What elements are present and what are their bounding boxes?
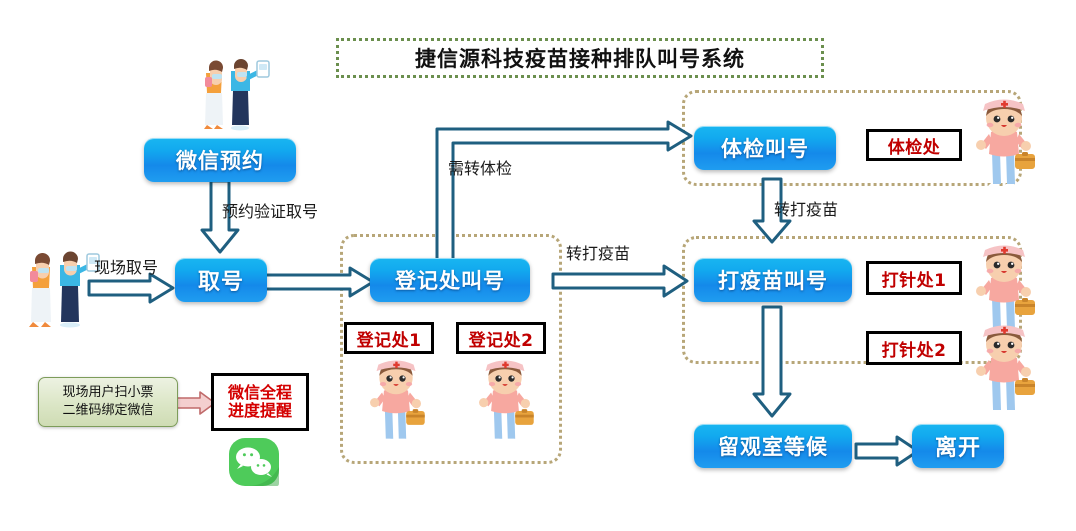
note-wechat-progress-reminder: 微信全程 进度提醒 [211, 373, 309, 431]
node-exam-call-label: 体检叫号 [721, 133, 809, 163]
node-get-number[interactable]: 取号 [175, 258, 267, 302]
station-injection-1: 打针处1 [866, 261, 962, 295]
page-title-text: 捷信源科技疫苗接种排队叫号系统 [415, 43, 745, 73]
station-injection-2-label: 打针处2 [882, 336, 947, 361]
node-get-number-label: 取号 [198, 264, 244, 296]
station-exam-desk: 体检处 [866, 129, 962, 161]
arrow-down-icon-vaccine-to-observation [752, 306, 792, 418]
node-vaccine-call-label: 打疫苗叫号 [718, 265, 828, 295]
note-scan-line-2: 二维码绑定微信 [62, 402, 153, 420]
wechat-logo-icon [227, 437, 283, 489]
node-vaccine-call[interactable]: 打疫苗叫号 [694, 258, 852, 302]
node-wechat-booking[interactable]: 微信预约 [144, 138, 296, 182]
station-registration-1-label: 登记处1 [357, 326, 422, 351]
arrow-right-icon-observation-to-leave [855, 435, 919, 467]
note-scan-bind-wechat: 现场用户扫小票 二维码绑定微信 [38, 377, 178, 427]
node-registration-call-label: 登记处叫号 [395, 265, 505, 295]
nurse-illustration-registration-1 [358, 352, 434, 444]
node-observation[interactable]: 留观室等候 [694, 424, 852, 468]
node-observation-label: 留观室等候 [718, 431, 828, 461]
nurse-illustration-registration-2 [467, 352, 543, 444]
note-reminder-line-1: 微信全程 [228, 384, 292, 402]
arrow-right-icon-to-registration [262, 266, 374, 298]
station-registration-1: 登记处1 [344, 322, 434, 354]
node-exam-call[interactable]: 体检叫号 [694, 126, 836, 170]
node-registration-call[interactable]: 登记处叫号 [370, 258, 530, 302]
station-registration-2-label: 登记处2 [469, 326, 534, 351]
node-leave[interactable]: 离开 [912, 424, 1004, 468]
node-wechat-booking-label: 微信预约 [176, 145, 264, 175]
station-injection-1-label: 打针处1 [882, 266, 947, 291]
note-reminder-line-2: 进度提醒 [228, 402, 292, 420]
citizens-illustration-top [183, 33, 283, 133]
nurse-illustration-injection-2 [963, 318, 1045, 414]
station-exam-desk-label: 体检处 [888, 133, 941, 158]
note-scan-line-1: 现场用户扫小票 [62, 384, 153, 402]
node-leave-label: 离开 [935, 430, 981, 462]
arrow-right-icon-reg-to-vaccine [552, 264, 688, 298]
flowchart-canvas: 捷信源科技疫苗接种排队叫号系统 [0, 0, 1076, 531]
edge-label-booking-verify: 预约验证取号 [222, 198, 318, 222]
arrow-right-icon-scan-to-reminder [176, 390, 216, 416]
nurse-illustration-exam [963, 92, 1045, 188]
edge-label-reg-to-vaccine: 转打疫苗 [566, 240, 630, 264]
edge-label-onsite-ticket: 现场取号 [94, 254, 158, 278]
edge-label-need-exam: 需转体检 [448, 155, 512, 179]
page-title: 捷信源科技疫苗接种排队叫号系统 [336, 38, 824, 78]
station-injection-2: 打针处2 [866, 331, 962, 365]
station-registration-2: 登记处2 [456, 322, 546, 354]
edge-label-exam-to-vaccine: 转打疫苗 [774, 196, 838, 220]
